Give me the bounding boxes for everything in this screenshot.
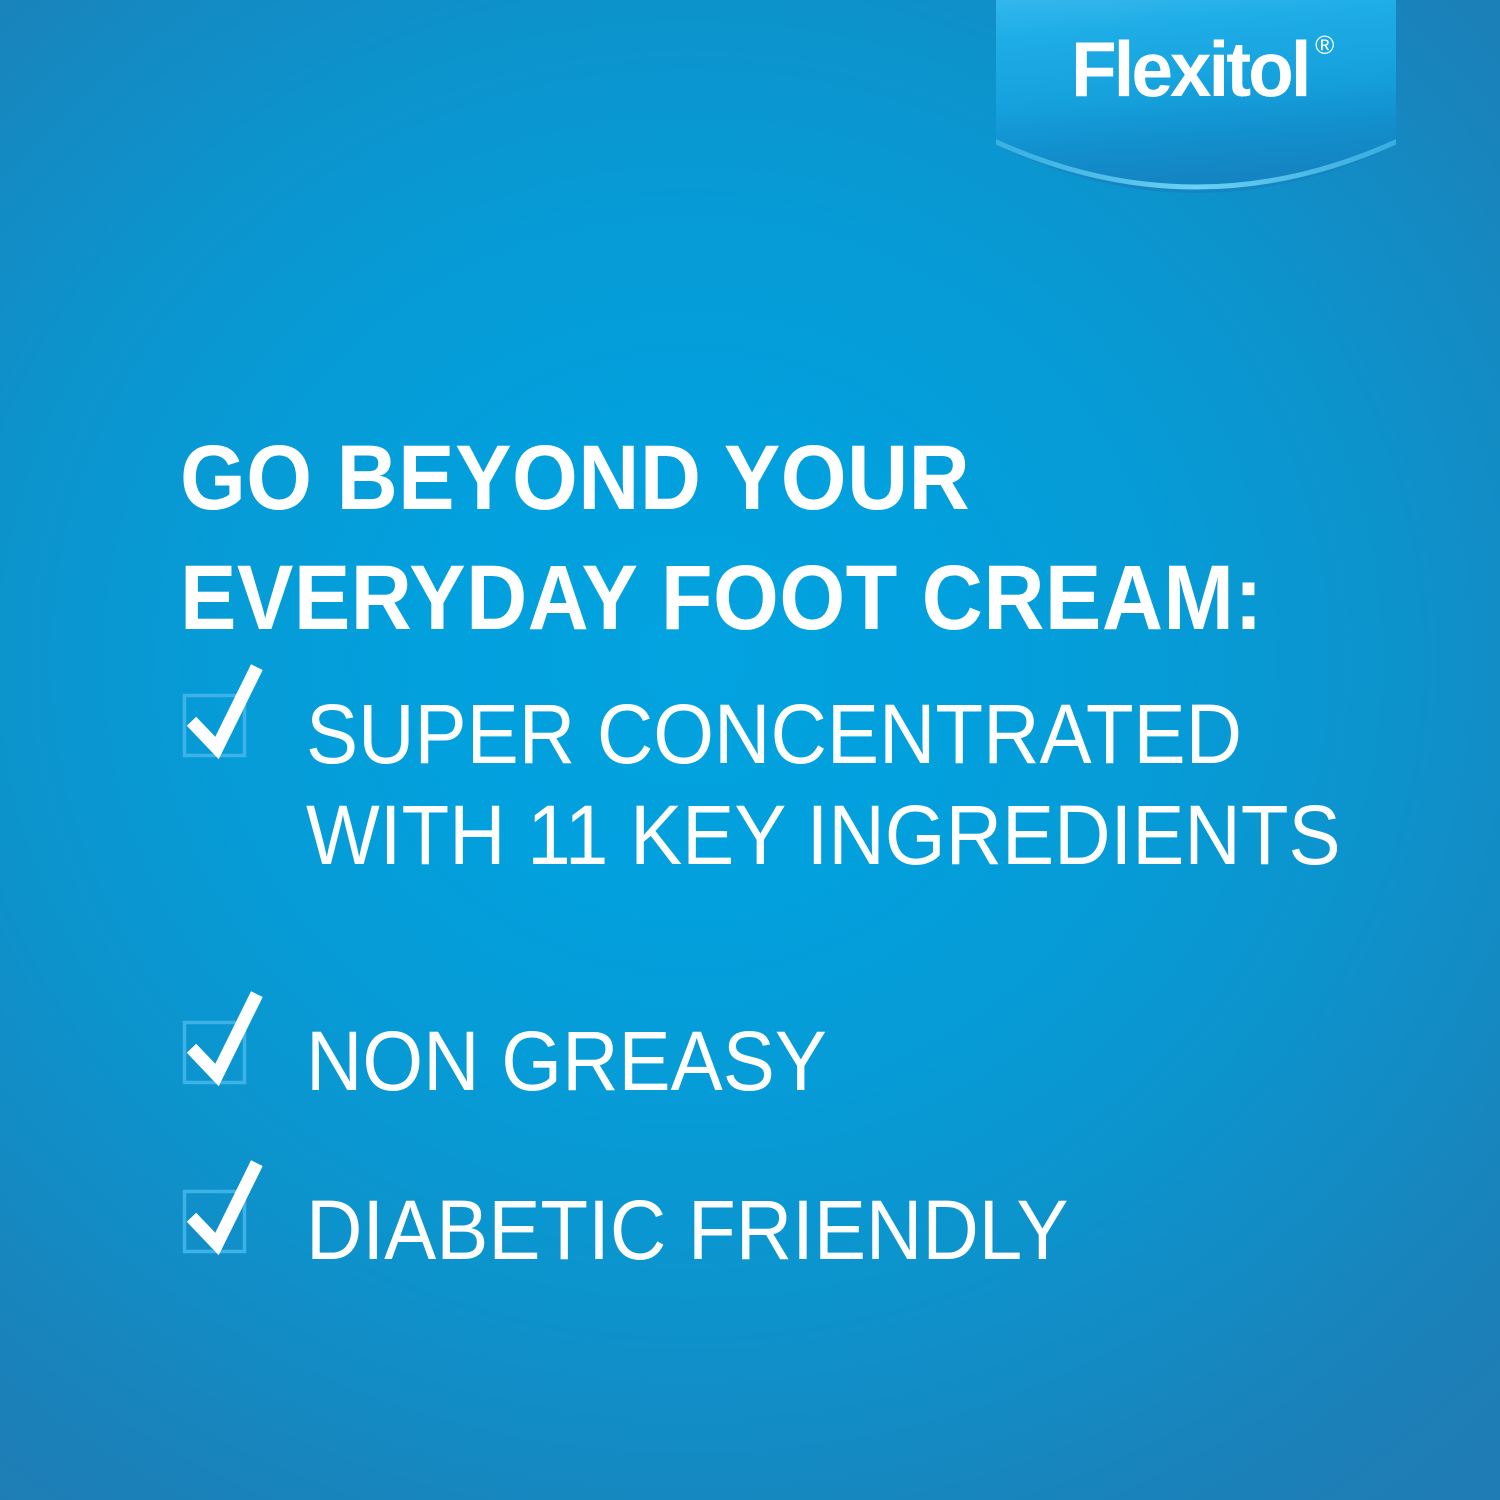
- promotional-banner: Flexitol ® GO BEYOND YOUR EVERYDAY FOOT …: [0, 0, 1500, 1500]
- registered-trademark-icon: ®: [1315, 32, 1334, 58]
- page-headline: GO BEYOND YOUR EVERYDAY FOOT CREAM:: [180, 418, 1321, 658]
- benefit-list: SUPER CONCENTRATED WITH 11 KEY INGREDIEN…: [182, 690, 1432, 1281]
- checkbox-checked-glyph: [182, 989, 278, 1093]
- benefit-label: SUPER CONCENTRATED WITH 11 KEY INGREDIEN…: [306, 684, 1341, 886]
- checkbox-checked-icon: [182, 1158, 278, 1262]
- brand-name-text: Flexitol: [1071, 30, 1309, 108]
- flexitol-brand-badge: Flexitol ®: [996, 0, 1396, 220]
- checkbox-checked-glyph: [182, 662, 278, 766]
- benefit-item-diabetic-friendly: DIABETIC FRIENDLY: [182, 1186, 1432, 1281]
- benefit-item-super-concentrated: SUPER CONCENTRATED WITH 11 KEY INGREDIEN…: [182, 690, 1432, 886]
- benefit-item-non-greasy: NON GREASY: [182, 1017, 1432, 1112]
- benefit-label: NON GREASY: [306, 1011, 827, 1112]
- brand-wordmark: Flexitol ®: [996, 0, 1396, 144]
- checkbox-checked-glyph: [182, 1158, 278, 1262]
- checkbox-checked-icon: [182, 989, 278, 1093]
- checkbox-checked-icon: [182, 662, 278, 766]
- benefit-label: DIABETIC FRIENDLY: [306, 1180, 1069, 1281]
